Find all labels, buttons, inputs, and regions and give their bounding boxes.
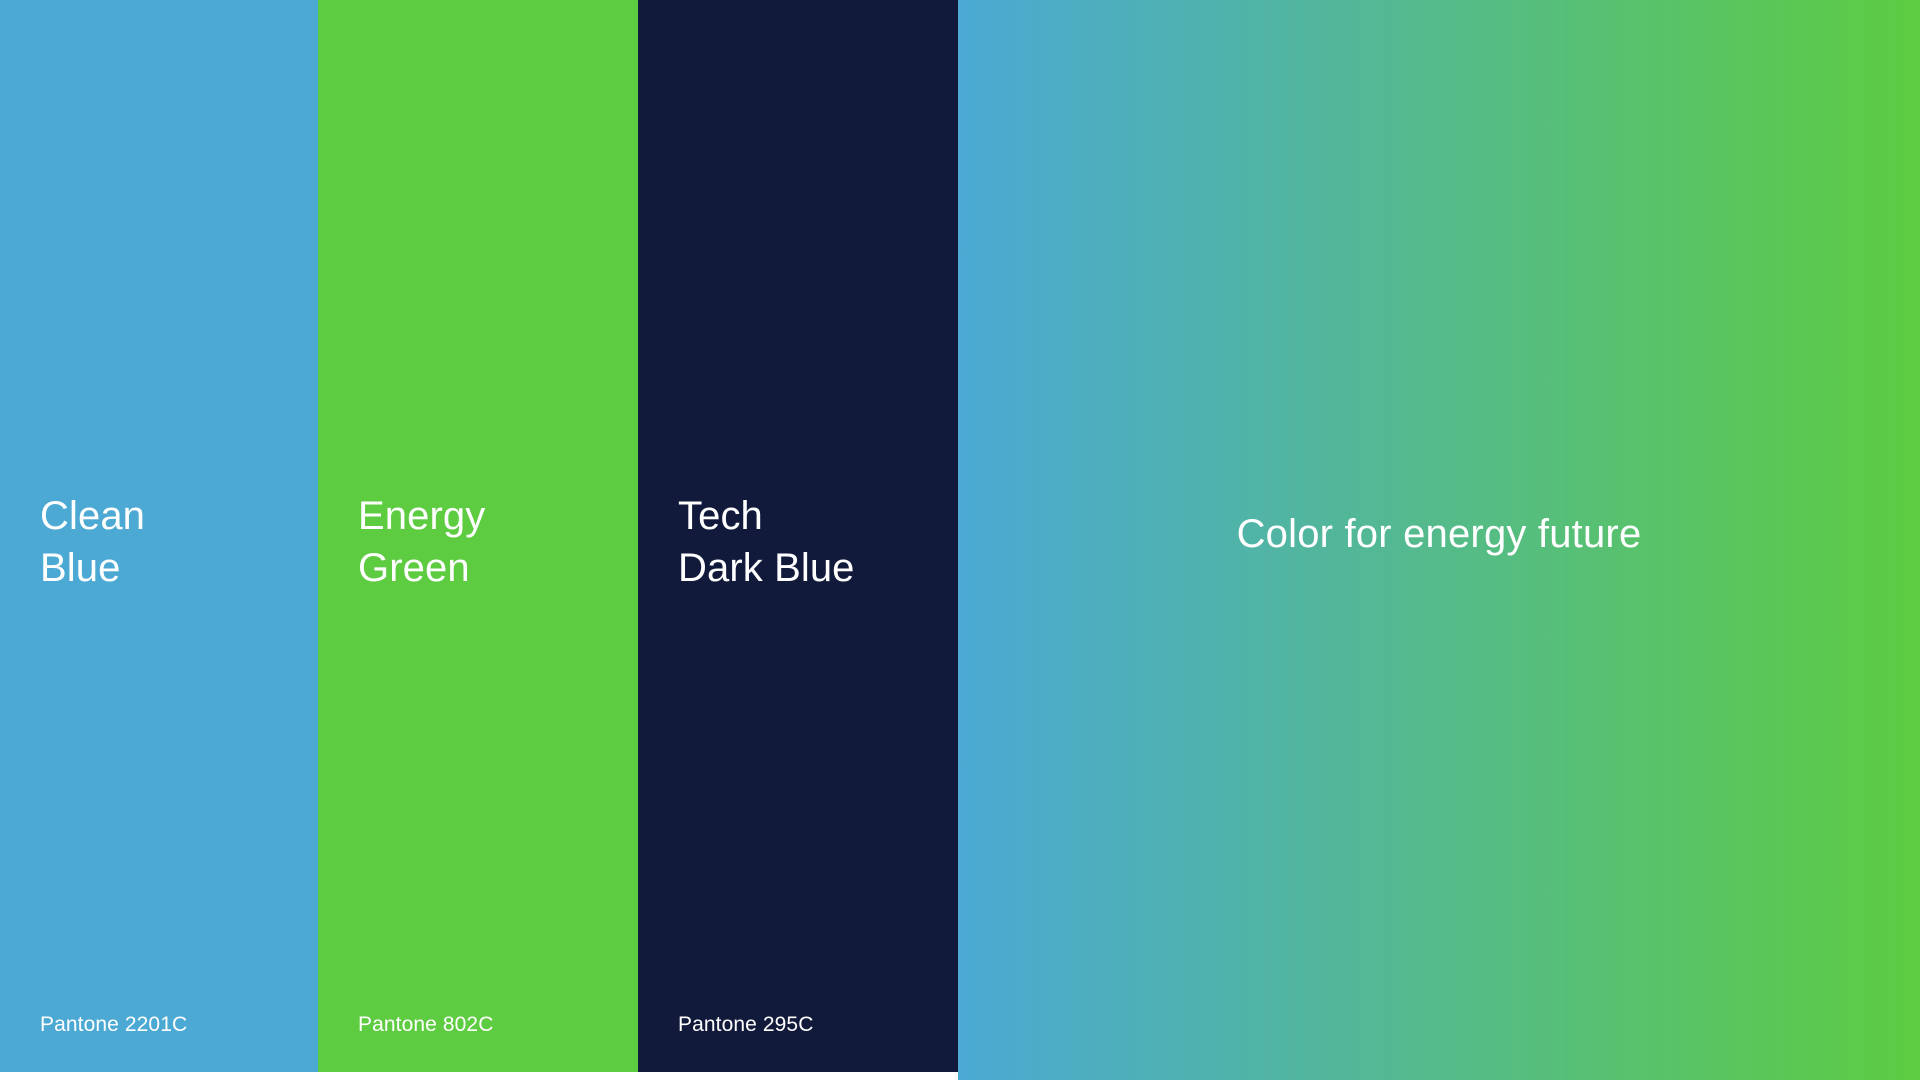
swatch-name-clean-blue: Clean Blue [40, 490, 145, 594]
swatch-code-clean-blue: Pantone 2201C [40, 1012, 187, 1038]
swatch-name-energy-green: Energy Green [358, 490, 485, 594]
color-palette-board: Clean Blue Pantone 2201C Energy Green Pa… [0, 0, 1920, 1080]
color-swatch-energy-green[interactable]: Energy Green Pantone 802C [318, 0, 638, 1072]
swatch-code-energy-green: Pantone 802C [358, 1012, 493, 1038]
gradient-headline: Color for energy future [1237, 508, 1642, 560]
color-swatch-clean-blue[interactable]: Clean Blue Pantone 2201C [0, 0, 318, 1072]
swatch-name-tech-dark-blue: Tech Dark Blue [678, 490, 855, 594]
color-swatch-tech-dark-blue[interactable]: Tech Dark Blue Pantone 295C [638, 0, 958, 1072]
gradient-panel: Color for energy future [958, 0, 1920, 1080]
swatch-code-tech-dark-blue: Pantone 295C [678, 1012, 813, 1038]
